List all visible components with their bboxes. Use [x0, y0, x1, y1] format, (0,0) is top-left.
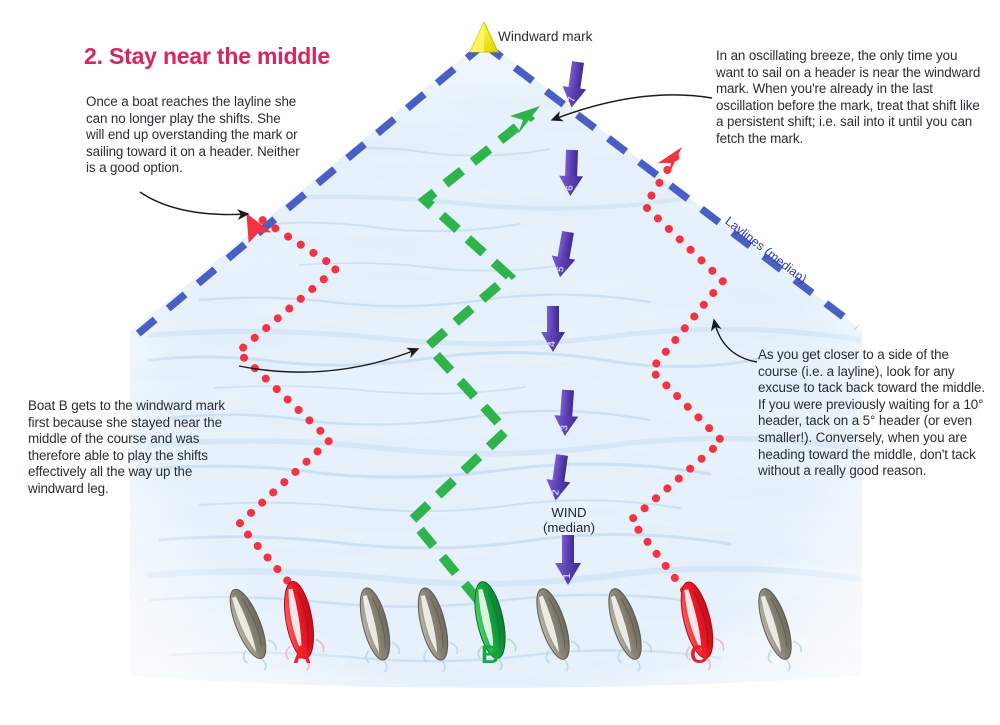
annotation-oscillating-breeze: In an oscillating breeze, the only time …	[716, 48, 984, 148]
wind-direction-label: WIND (median)	[531, 505, 607, 535]
boat-b-label: B	[481, 641, 499, 670]
annotation-tack-back-to-middle: As you get closer to a side of the cours…	[758, 347, 990, 480]
svg-text:4: 4	[547, 341, 558, 347]
annotation-layline-warning: Once a boat reaches the layline she can …	[86, 94, 301, 177]
annotation-boat-b-wins: Boat B gets to the windward mark first b…	[28, 398, 234, 498]
svg-text:6: 6	[565, 185, 576, 191]
boat-a-label: A	[293, 641, 311, 670]
windward-mark-icon	[470, 22, 498, 52]
windward-mark-label: Windward mark	[498, 29, 592, 44]
boat-c-label: C	[690, 641, 708, 670]
diagram-canvas: 7 6 5 4 3	[0, 0, 1000, 725]
page-title: 2. Stay near the middle	[84, 43, 330, 70]
svg-text:1: 1	[562, 573, 573, 579]
